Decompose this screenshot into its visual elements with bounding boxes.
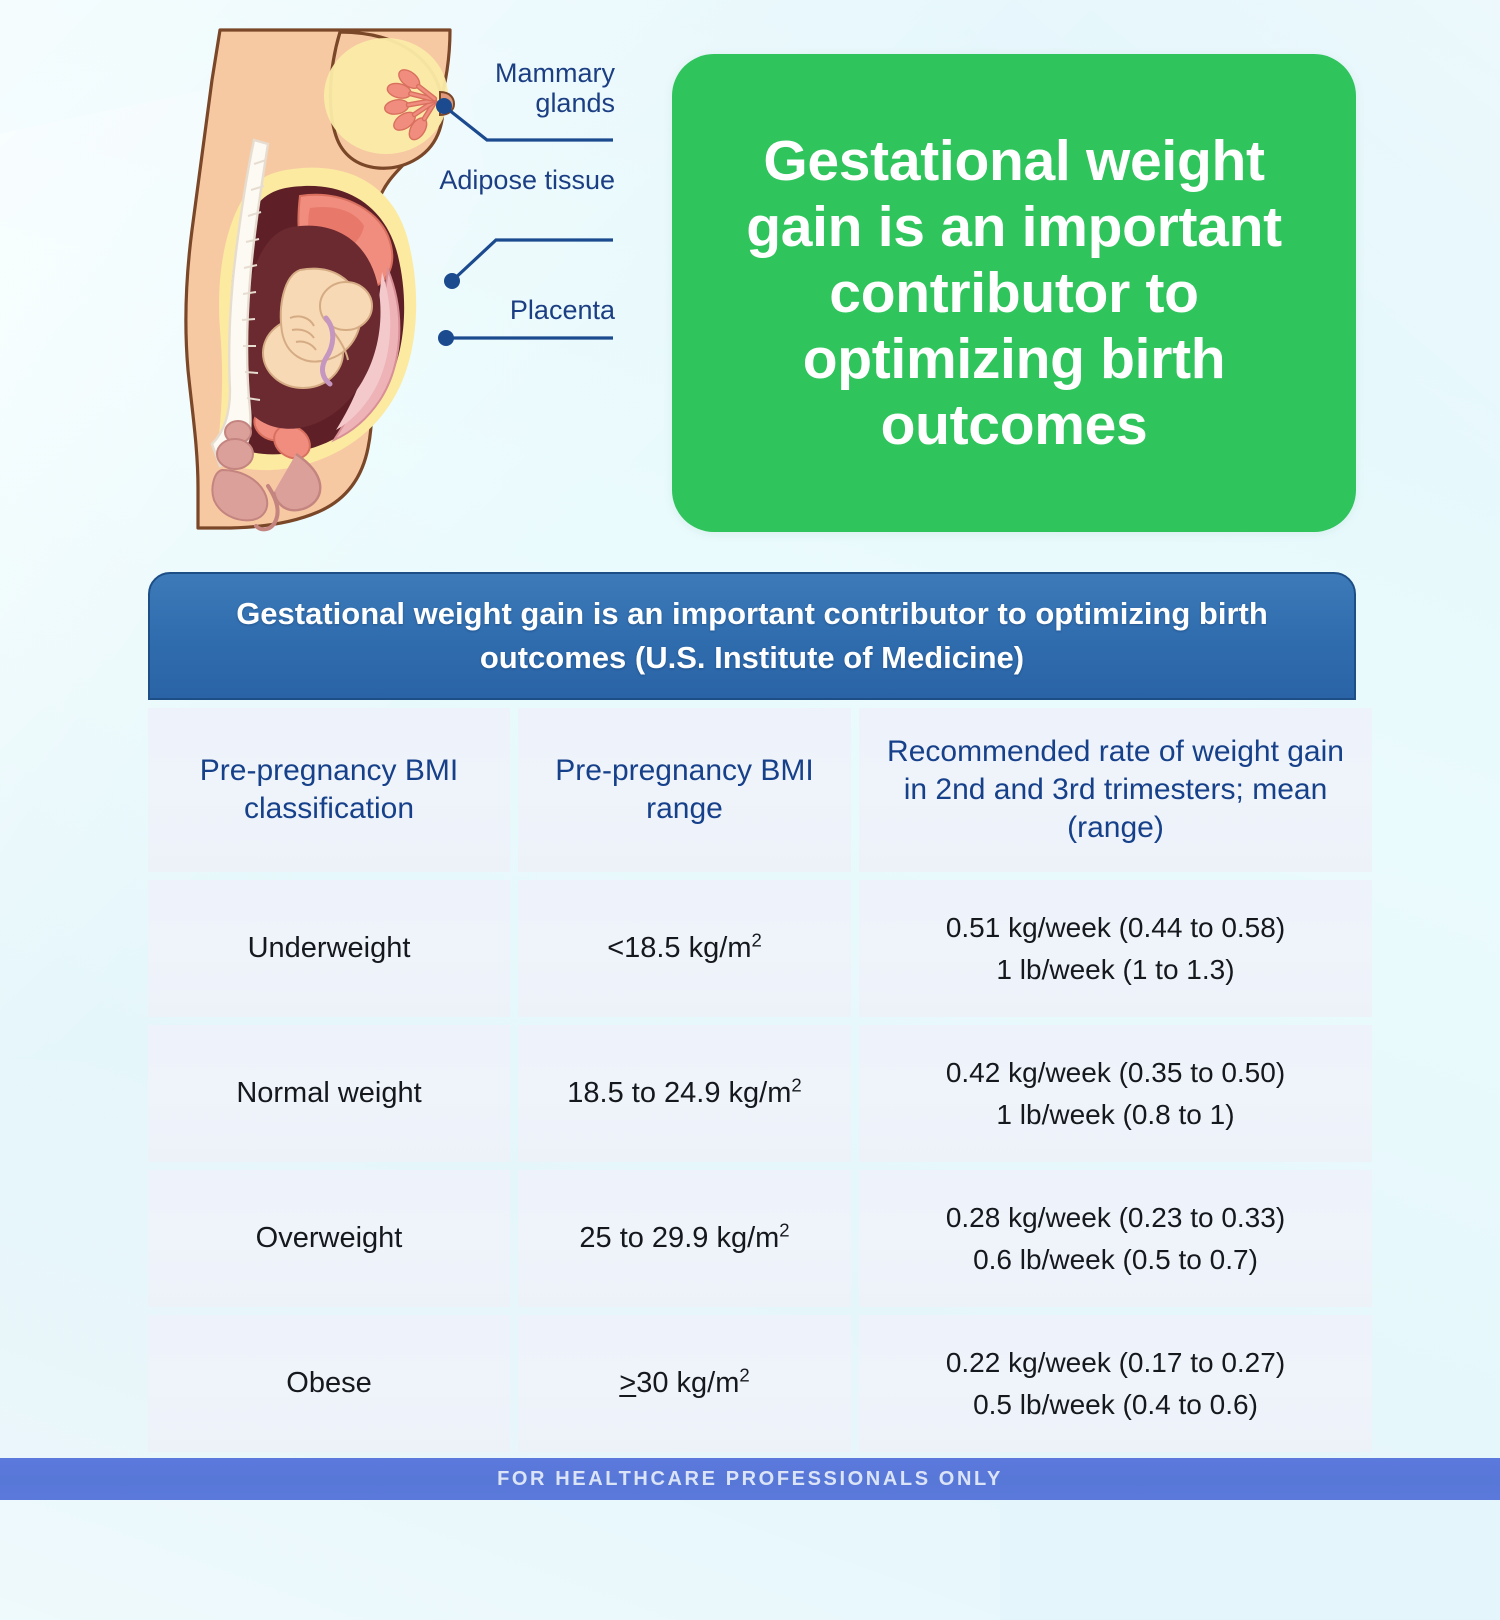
table-row: 0.28 kg/week (0.23 to 0.33) 0.6 lb/week … [859, 1170, 1372, 1307]
cell-bmi-range: >30 kg/m2 [619, 1364, 749, 1403]
rate-kg: 0.51 kg/week (0.44 to 0.58) [946, 912, 1285, 943]
cell-classification: Underweight [248, 929, 411, 968]
table-row: Normal weight [148, 1025, 510, 1162]
column-header-bmi-classification-text: Pre-pregnancy BMI classification [162, 752, 496, 828]
green-callout-card: Gestational weight gain is an important … [672, 54, 1356, 532]
table-row: 0.22 kg/week (0.17 to 0.27) 0.5 lb/week … [859, 1315, 1372, 1452]
footer-text: FOR HEALTHCARE PROFESSIONALS ONLY [497, 1468, 1003, 1491]
rate-lb: 0.6 lb/week (0.5 to 0.7) [973, 1244, 1258, 1275]
green-callout-text: Gestational weight gain is an important … [672, 128, 1356, 459]
table-row: 25 to 29.9 kg/m2 [518, 1170, 851, 1307]
label-mammary-glands: Mammary glands [420, 58, 615, 118]
cell-recommended-rate: 0.42 kg/week (0.35 to 0.50) 1 lb/week (0… [946, 1052, 1285, 1136]
column-header-recommended-rate-text: Recommended rate of weight gain in 2nd a… [873, 733, 1358, 846]
table-row: Underweight [148, 880, 510, 1017]
cell-classification: Normal weight [236, 1074, 421, 1113]
table-header-banner: Gestational weight gain is an important … [148, 572, 1356, 700]
column-header-recommended-rate: Recommended rate of weight gain in 2nd a… [859, 708, 1372, 872]
table-row: Overweight [148, 1170, 510, 1307]
table-row: 18.5 to 24.9 kg/m2 [518, 1025, 851, 1162]
table-row: Obese [148, 1315, 510, 1452]
bmi-recommendation-table: Gestational weight gain is an important … [148, 572, 1356, 1452]
column-header-bmi-range: Pre-pregnancy BMI range [518, 708, 851, 872]
table-row: 0.51 kg/week (0.44 to 0.58) 1 lb/week (1… [859, 880, 1372, 1017]
cell-bmi-range: <18.5 kg/m2 [607, 929, 762, 968]
rate-lb: 1 lb/week (0.8 to 1) [996, 1099, 1234, 1130]
cell-classification: Obese [286, 1364, 371, 1403]
cell-recommended-rate: 0.51 kg/week (0.44 to 0.58) 1 lb/week (1… [946, 907, 1285, 991]
table-row: 0.42 kg/week (0.35 to 0.50) 1 lb/week (0… [859, 1025, 1372, 1162]
table-header-text: Gestational weight gain is an important … [150, 592, 1354, 680]
cell-recommended-rate: 0.22 kg/week (0.17 to 0.27) 0.5 lb/week … [946, 1342, 1285, 1426]
label-placenta: Placenta [420, 295, 615, 325]
cell-classification: Overweight [256, 1219, 403, 1258]
cell-bmi-range: 18.5 to 24.9 kg/m2 [567, 1074, 801, 1113]
table-row: <18.5 kg/m2 [518, 880, 851, 1017]
rate-lb: 0.5 lb/week (0.4 to 0.6) [973, 1389, 1258, 1420]
rate-kg: 0.28 kg/week (0.23 to 0.33) [946, 1202, 1285, 1233]
rate-kg: 0.42 kg/week (0.35 to 0.50) [946, 1057, 1285, 1088]
cell-recommended-rate: 0.28 kg/week (0.23 to 0.33) 0.6 lb/week … [946, 1197, 1285, 1281]
cell-bmi-range: 25 to 29.9 kg/m2 [579, 1219, 789, 1258]
label-adipose-tissue: Adipose tissue [420, 165, 615, 195]
column-header-bmi-range-text: Pre-pregnancy BMI range [532, 752, 837, 828]
footer-bar: FOR HEALTHCARE PROFESSIONALS ONLY [0, 1458, 1500, 1500]
table-grid: Pre-pregnancy BMI classification Pre-pre… [148, 708, 1356, 1452]
rate-lb: 1 lb/week (1 to 1.3) [996, 954, 1234, 985]
rate-kg: 0.22 kg/week (0.17 to 0.27) [946, 1347, 1285, 1378]
table-row: >30 kg/m2 [518, 1315, 851, 1452]
column-header-bmi-classification: Pre-pregnancy BMI classification [148, 708, 510, 872]
